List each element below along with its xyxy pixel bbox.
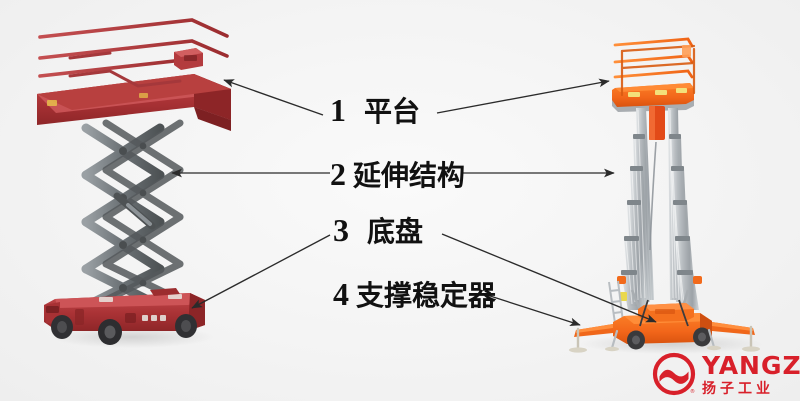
callout-number-3: 3	[333, 212, 349, 248]
callout-number-2: 2	[330, 156, 346, 192]
svg-text:®: ®	[690, 388, 695, 395]
callout-label-1: 1平台	[330, 94, 420, 127]
mast-lift-machine	[569, 39, 760, 353]
arrow-1-left	[224, 80, 323, 115]
callout-text-3: 底盘	[367, 215, 423, 248]
callout-number-1: 1	[330, 92, 346, 128]
mast-platform	[612, 39, 694, 112]
yangzi-circle-wave-icon: ®	[652, 352, 696, 396]
diagram-canvas: 1平台 2延伸结构 3底盘 4支撑稳定器 ® YANGZI 扬子工业	[0, 0, 800, 401]
callout-text-1: 平台	[364, 95, 420, 128]
callout-number-4: 4	[333, 276, 349, 312]
brand-latin-text: YANGZI	[702, 353, 800, 378]
brand-cjk-text: 扬子工业	[702, 382, 800, 396]
mast-structure	[609, 108, 702, 330]
arrow-4-right	[487, 295, 580, 325]
brand-wordmark: YANGZI 扬子工业	[702, 353, 800, 396]
callout-text-4: 支撑稳定器	[356, 279, 496, 312]
mast-stop-right	[693, 276, 702, 284]
callout-label-3: 3底盘	[333, 214, 423, 247]
machinery-illustration	[0, 0, 800, 401]
callout-text-2: 延伸结构	[353, 159, 465, 192]
scissor-lift-machine	[37, 20, 231, 345]
chassis-panel	[75, 309, 84, 325]
scissor-control-box	[174, 48, 203, 70]
platform-decal	[47, 100, 57, 106]
scissor-platform	[37, 20, 231, 131]
arrow-1-right	[437, 81, 609, 113]
callout-label-4: 4支撑稳定器	[333, 278, 496, 311]
arrow-3-left	[192, 235, 330, 308]
brand-logo: ® YANGZI 扬子工业	[652, 350, 798, 398]
mast-platform-decal	[628, 92, 640, 97]
callout-label-2: 2延伸结构	[330, 158, 465, 191]
